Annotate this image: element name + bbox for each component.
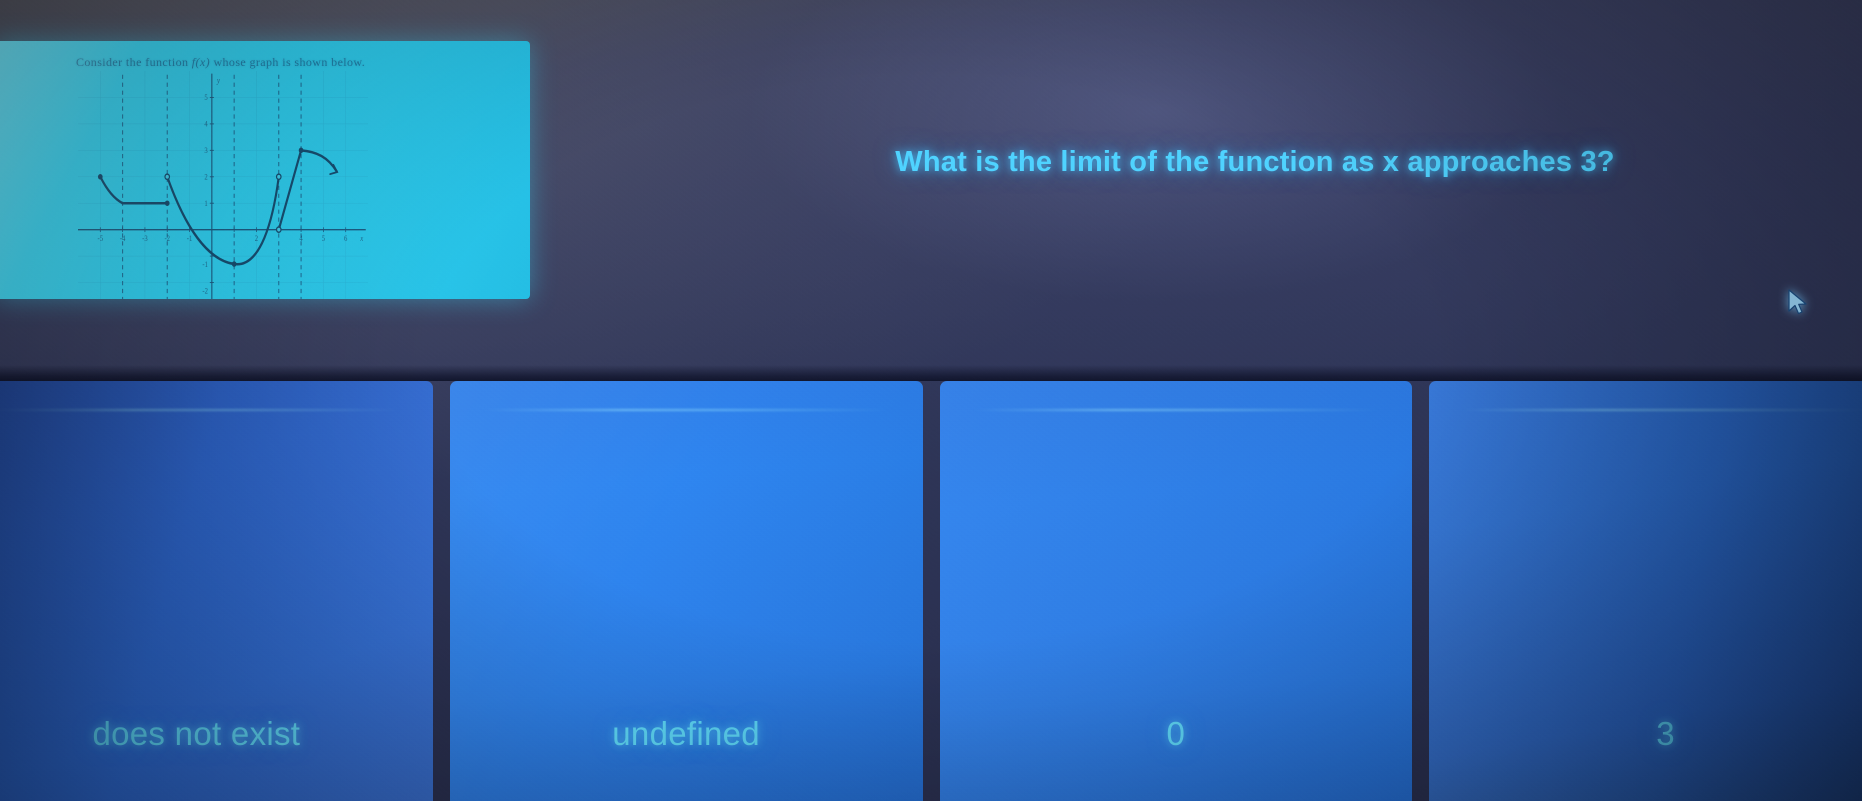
svg-text:-5: -5: [98, 233, 104, 243]
svg-text:3: 3: [204, 145, 208, 155]
svg-text:x: x: [359, 233, 364, 243]
branch-3: [167, 177, 279, 264]
svg-text:-1: -1: [202, 260, 208, 270]
answer-option-zero[interactable]: 0: [940, 381, 1413, 801]
answer-options: does not exist undefined 0 3: [0, 381, 1862, 801]
function-graph: -5 -4 -3 -2 -1 2 4 5 6 1 2 3 4 5 -1 -2 x…: [78, 71, 368, 299]
answer-label: undefined: [612, 715, 760, 753]
tile-glint: [1462, 409, 1862, 411]
svg-text:-1: -1: [187, 233, 193, 243]
branch-1: [100, 177, 122, 203]
function-curve: [100, 150, 337, 264]
svg-text:5: 5: [322, 233, 326, 243]
answer-option-three[interactable]: 3: [1429, 381, 1862, 801]
graph-caption-suffix: whose graph is shown below.: [210, 55, 365, 69]
question-title: What is the limit of the function as x a…: [700, 146, 1810, 179]
answer-option-does-not-exist[interactable]: does not exist: [0, 381, 433, 801]
svg-text:-2: -2: [202, 286, 208, 296]
graph-svg: -5 -4 -3 -2 -1 2 4 5 6 1 2 3 4 5 -1 -2 x…: [78, 71, 368, 299]
answer-label: 0: [1167, 715, 1186, 753]
mouse-pointer-icon: [1786, 288, 1812, 318]
svg-text:2: 2: [255, 233, 259, 243]
svg-text:-4: -4: [120, 233, 126, 243]
tile-glint: [973, 409, 1380, 411]
svg-text:5: 5: [204, 93, 208, 103]
svg-text:y: y: [216, 75, 221, 85]
tile-grain: [1429, 381, 1862, 801]
tick-marks: [100, 97, 345, 282]
tile-glint: [0, 409, 400, 411]
svg-text:4: 4: [204, 119, 208, 129]
answer-label: does not exist: [92, 715, 300, 753]
branch-4: [279, 150, 301, 229]
grid-lines: [78, 71, 368, 299]
branch-5: [301, 150, 337, 171]
svg-text:6: 6: [344, 233, 348, 243]
tile-glint: [483, 409, 890, 411]
answer-label: 3: [1656, 715, 1675, 753]
axes: [78, 74, 366, 299]
svg-text:4: 4: [299, 233, 303, 243]
graph-caption-function: f(x): [192, 55, 210, 69]
question-media-card: Consider the function f(x) whose graph i…: [0, 41, 530, 299]
svg-text:-2: -2: [164, 233, 170, 243]
svg-text:1: 1: [204, 198, 208, 208]
svg-text:2: 2: [204, 172, 208, 182]
graph-caption-prefix: Consider the function: [76, 55, 192, 69]
graph-caption: Consider the function f(x) whose graph i…: [76, 55, 365, 70]
answer-option-undefined[interactable]: undefined: [450, 381, 923, 801]
arrow-head: [330, 165, 337, 174]
svg-text:-3: -3: [142, 233, 148, 243]
